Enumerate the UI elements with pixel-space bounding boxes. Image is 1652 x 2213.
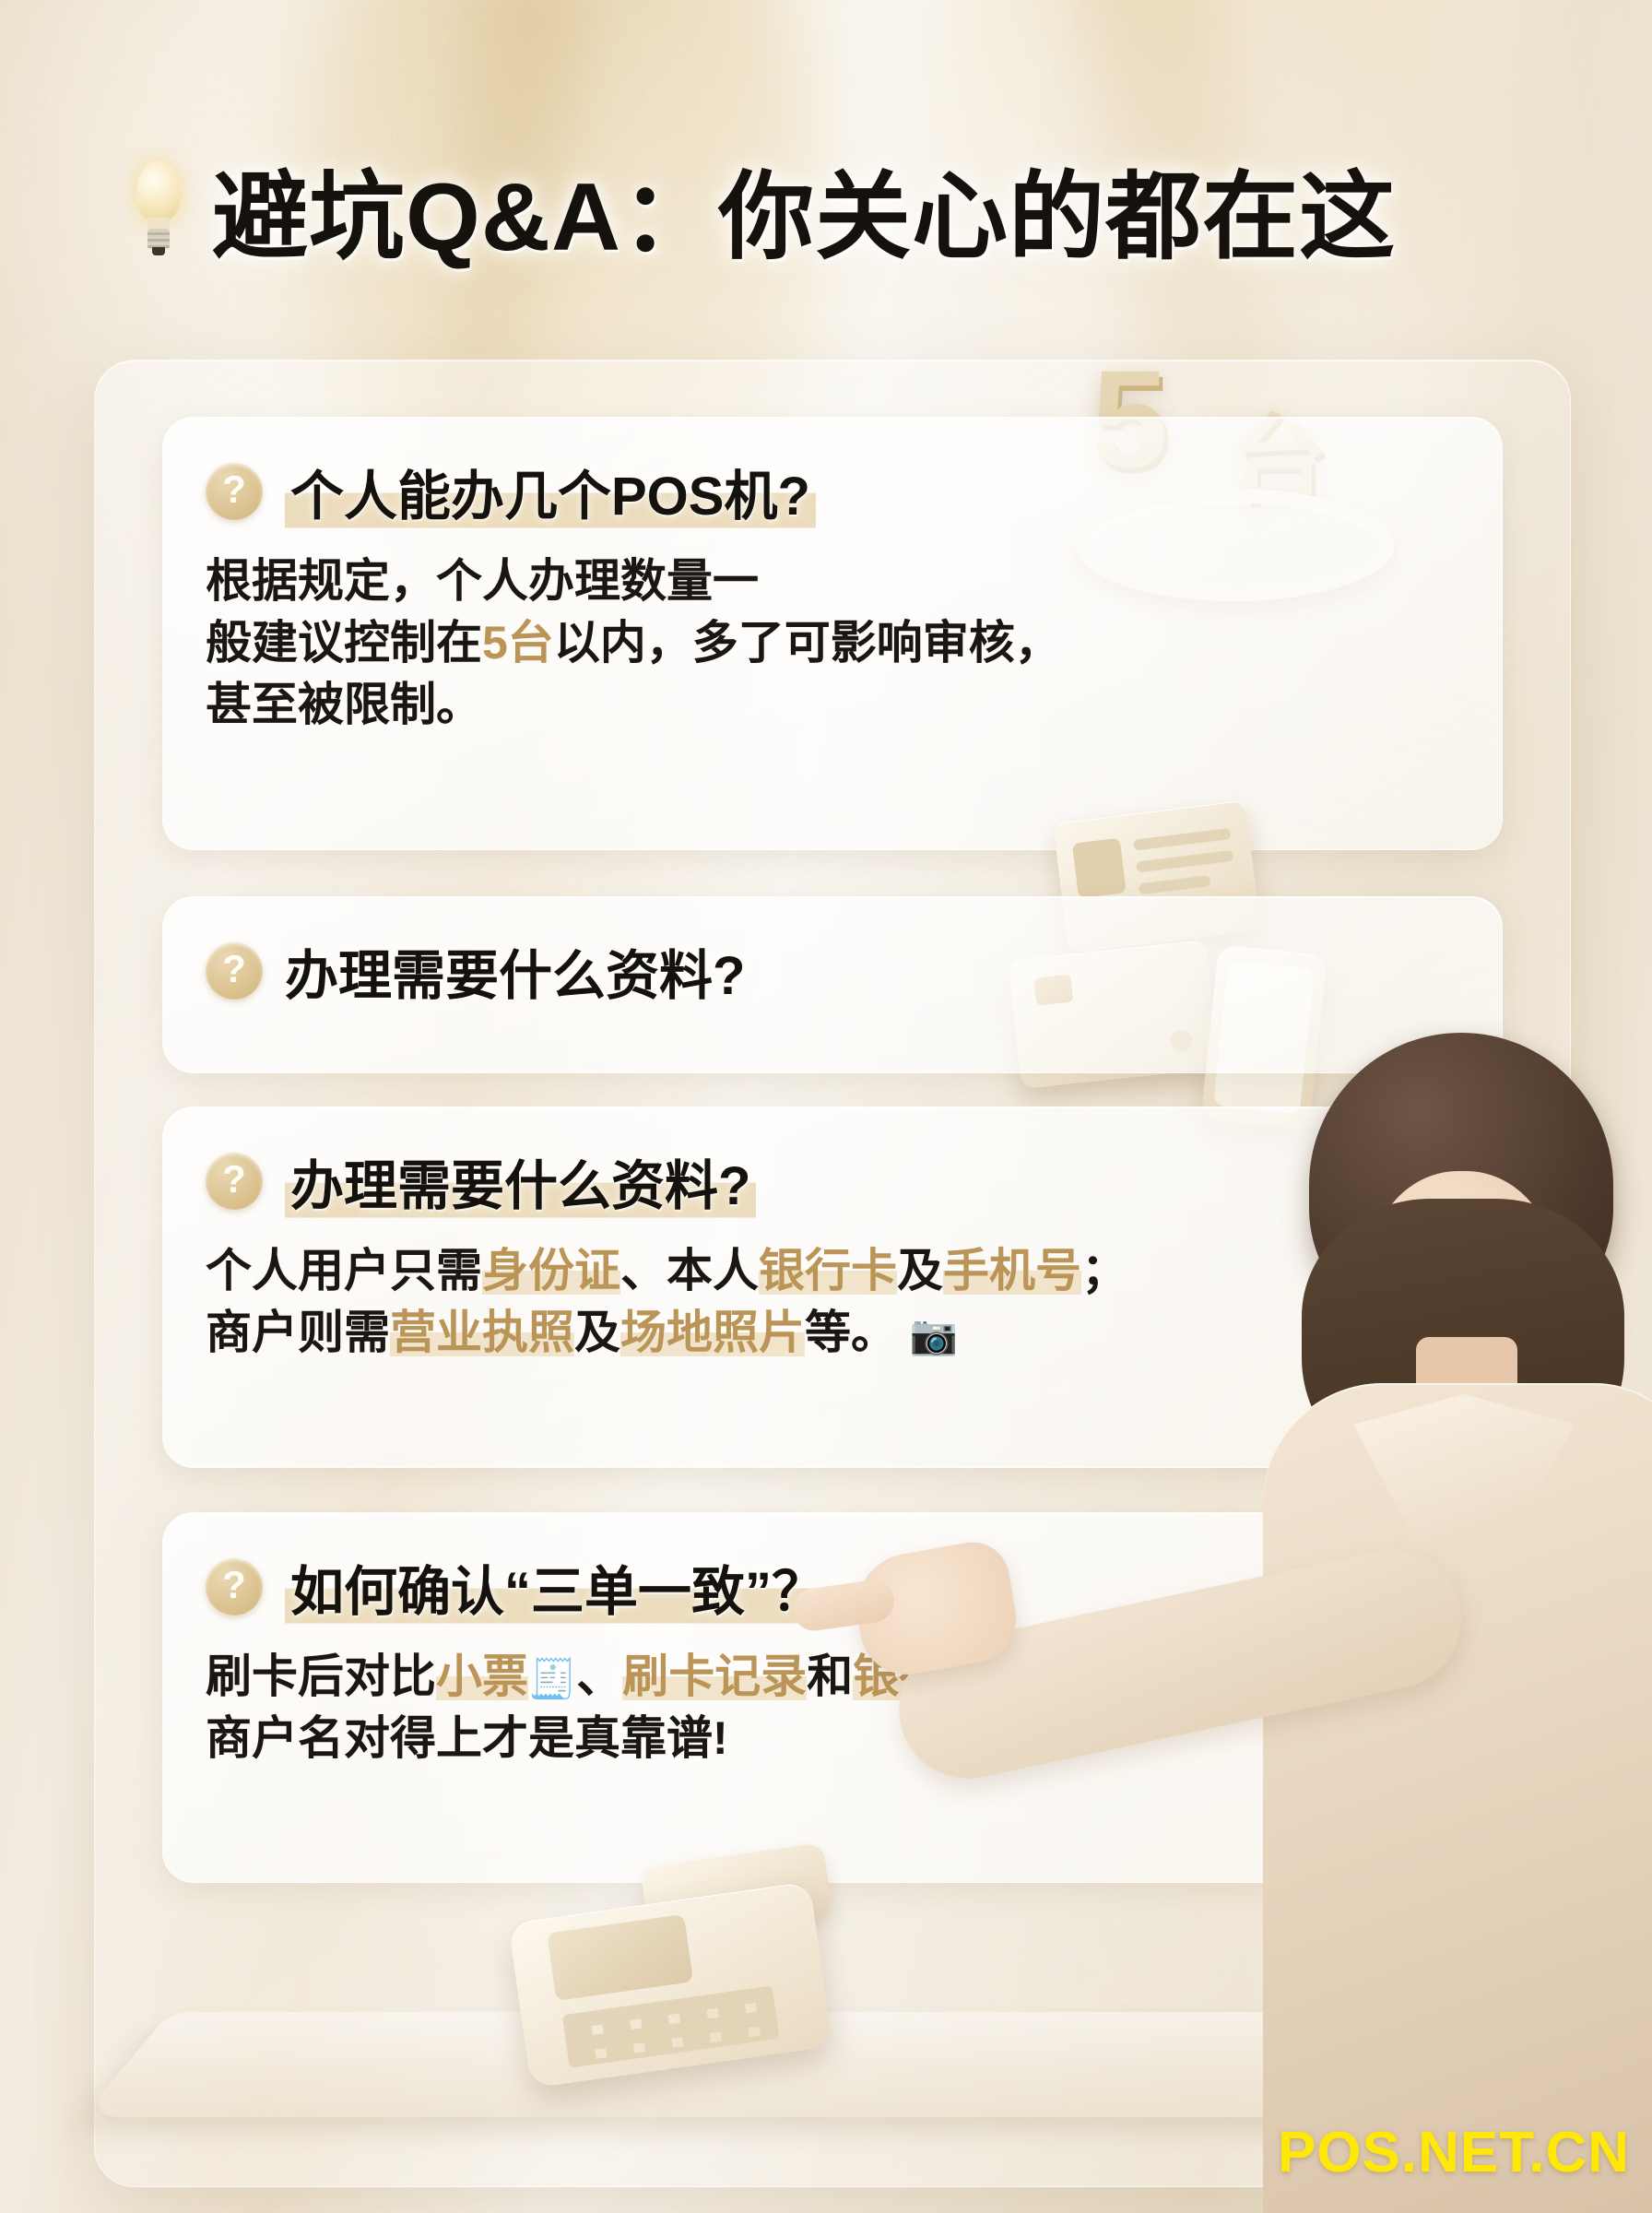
question-mark-glyph: ? — [222, 1566, 246, 1604]
card-2-question: 办理需要什么资料? — [285, 932, 745, 1010]
card-1-question: 个人能办几个POS机? — [285, 453, 816, 530]
answer-highlight-sitephoto: 场地照片 — [620, 1307, 805, 1358]
question-row: ? 个人能办几个POS机? — [163, 418, 1502, 530]
answer-text: 及 — [574, 1307, 620, 1358]
answer-highlight-idcard: 身份证 — [482, 1245, 620, 1296]
receipt-icon: 🧾 — [528, 1657, 576, 1700]
answer-text: 及 — [897, 1245, 943, 1296]
question-mark-glyph: ? — [222, 1160, 246, 1199]
answer-highlight-license: 营业执照 — [390, 1307, 574, 1358]
answer-text: 等。 — [805, 1307, 897, 1358]
watermark: POS.NET.CN — [1278, 2120, 1630, 2185]
faq-card-1[interactable]: ? 个人能办几个POS机? 根据规定，个人办理数量一 般建议控制在5台以内，多了… — [162, 417, 1503, 850]
lightbulb-icon — [129, 160, 188, 256]
question-mark-icon: ? — [206, 463, 263, 520]
question-row: ? 办理需要什么资料? — [163, 897, 1502, 1010]
answer-text: 以内，多了可影响审核， — [554, 617, 1061, 669]
answer-text: ； — [1081, 1245, 1127, 1296]
question-mark-icon: ? — [206, 1558, 263, 1615]
page-header: 避坑Q&A：你关心的都在这 — [129, 138, 1396, 278]
page-title: 避坑Q&A：你关心的都在这 — [212, 138, 1396, 278]
answer-text: 刷卡后对比 — [206, 1651, 436, 1702]
answer-highlight-5tai: 5台 — [482, 617, 554, 669]
person-illustration — [1198, 1033, 1652, 2213]
question-mark-glyph: ? — [222, 470, 246, 509]
answer-text: 、本人 — [620, 1245, 759, 1296]
question-mark-icon: ? — [206, 942, 263, 1000]
card-3-question: 办理需要什么资料? — [285, 1142, 756, 1220]
camera-icon: 📷 — [910, 1313, 958, 1356]
answer-highlight-cardrecord: 刷卡记录 — [622, 1651, 807, 1702]
answer-text: 和 — [807, 1651, 853, 1702]
answer-highlight-bankcard: 银行卡 — [759, 1245, 897, 1296]
answer-text: 、 — [576, 1651, 622, 1702]
answer-text: 商户则需 — [206, 1307, 390, 1358]
card-1-answer: 根据规定，个人办理数量一 般建议控制在5台以内，多了可影响审核， 甚至被限制。 — [163, 530, 1502, 736]
card-4-question: 如何确认“三单一致”？ — [285, 1548, 831, 1626]
answer-text: 甚至被限制。 — [206, 679, 482, 730]
answer-highlight-receipt: 小票 — [436, 1651, 528, 1702]
answer-text: 般建议控制在 — [206, 617, 482, 669]
answer-text: 个人用户只需 — [206, 1245, 482, 1296]
answer-highlight-phone: 手机号 — [943, 1245, 1081, 1296]
question-mark-glyph: ? — [222, 950, 246, 988]
question-mark-icon: ? — [206, 1153, 263, 1210]
answer-text: 根据规定，个人办理数量一 — [206, 555, 759, 607]
answer-text: 商户名对得上才是真靠谱! — [206, 1712, 728, 1764]
